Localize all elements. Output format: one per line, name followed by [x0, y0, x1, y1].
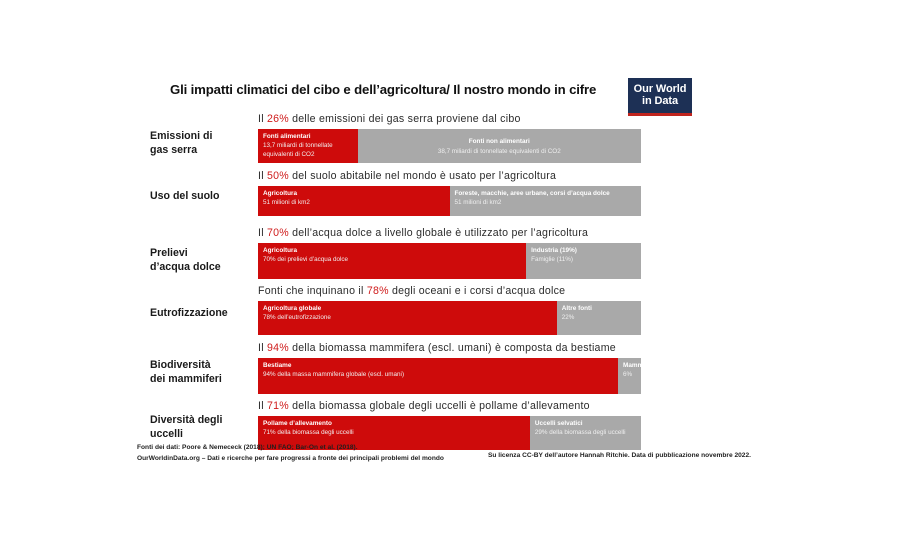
segment-title: Bestiame: [263, 361, 618, 370]
segment-title: Fonti non alimentari: [469, 137, 530, 146]
header: Gli impatti climatici del cibo e dell’ag…: [0, 78, 900, 118]
footer-sources: Fonti dei dati: Poore & Nemececk (2018);…: [137, 443, 444, 464]
row-label: Uso del suolo: [150, 190, 250, 204]
bar-segment-other: Industria (19%)Famiglie (11%): [526, 243, 641, 279]
metric-row: Uso del suoloIl 50% del suolo abitabile …: [0, 170, 900, 223]
row-caption: Il 70% dell’acqua dolce a livello global…: [258, 227, 658, 239]
bar-segment-agriculture: Agricoltura51 milioni di km2: [258, 186, 450, 216]
bar-segment-other: Mammiferi selvatici6%: [618, 358, 641, 394]
segment-subtitle: 29% della biomassa degli uccelli: [535, 428, 641, 437]
segment-title: Foreste, macchie, aree urbane, corsi d’a…: [455, 189, 642, 198]
caption-percentage: 71%: [267, 400, 289, 412]
page-title: Gli impatti climatici del cibo e dell’ag…: [170, 82, 620, 99]
segment-subtitle: Famiglie (11%): [531, 255, 641, 264]
bar-segment-agriculture: Agricoltura globale78% dell’eutrofizzazi…: [258, 301, 557, 335]
bar-segment-other: Foreste, macchie, aree urbane, corsi d’a…: [450, 186, 642, 216]
segment-title: Pollame d’allevamento: [263, 419, 530, 428]
row-caption: Fonti che inquinano il 78% degli oceani …: [258, 285, 658, 297]
segment-subtitle: 6%: [623, 370, 641, 379]
caption-percentage: 78%: [367, 285, 389, 297]
stacked-bar: Agricoltura globale78% dell’eutrofizzazi…: [258, 301, 641, 335]
caption-percentage: 94%: [267, 342, 289, 354]
infographic-page: Gli impatti climatici del cibo e dell’ag…: [0, 0, 900, 540]
caption-percentage: 50%: [267, 170, 289, 182]
metric-row: EutrofizzazioneFonti che inquinano il 78…: [0, 285, 900, 342]
segment-subtitle: 51 milioni di km2: [263, 198, 450, 207]
segment-title: Agricoltura: [263, 246, 526, 255]
footer-license: Su licenza CC-BY dell’autore Hannah Ritc…: [488, 452, 751, 459]
our-world-in-data-logo: Our World in Data: [628, 78, 692, 116]
bar-segment-agriculture: Agricoltura70% dei prelievi d’acqua dolc…: [258, 243, 526, 279]
segment-title: Agricoltura globale: [263, 304, 557, 313]
segment-title: Mammiferi selvatici: [623, 361, 641, 370]
caption-prefix: Il: [258, 227, 267, 239]
row-caption: Il 50% del suolo abitabile nel mondo è u…: [258, 170, 658, 182]
caption-suffix: del suolo abitabile nel mondo è usato pe…: [289, 170, 556, 182]
row-label: Biodiversitàdei mammiferi: [150, 359, 250, 387]
footer-sources-line-2: OurWorldinData.org – Dati e ricerche per…: [137, 454, 444, 465]
caption-suffix: delle emissioni dei gas serra proviene d…: [289, 113, 521, 125]
segment-subtitle: 70% dei prelievi d’acqua dolce: [263, 255, 526, 264]
segment-subtitle: 78% dell’eutrofizzazione: [263, 313, 557, 322]
caption-percentage: 70%: [267, 227, 289, 239]
caption-percentage: 26%: [267, 113, 289, 125]
row-caption: Il 26% delle emissioni dei gas serra pro…: [258, 113, 658, 125]
caption-suffix: della biomassa globale degli uccelli è p…: [289, 400, 590, 412]
metric-row: Biodiversitàdei mammiferiIl 94% della bi…: [0, 342, 900, 401]
caption-prefix: Il: [258, 400, 267, 412]
bar-segment-agriculture: Fonti alimentari13,7 miliardi di tonnell…: [258, 129, 358, 163]
stacked-bar: Bestiame94% della massa mammifera global…: [258, 358, 641, 394]
caption-prefix: Il: [258, 170, 267, 182]
segment-title: Altre fonti: [562, 304, 641, 313]
segment-subtitle: 51 milioni di km2: [455, 198, 642, 207]
segment-title: Uccelli selvatici: [535, 419, 641, 428]
row-caption: Il 94% della biomassa mammifera (escl. u…: [258, 342, 658, 354]
bar-segment-agriculture: Bestiame94% della massa mammifera global…: [258, 358, 618, 394]
segment-subtitle: 22%: [562, 313, 641, 322]
segment-title: Agricoltura: [263, 189, 450, 198]
bar-segment-other: Altre fonti22%: [557, 301, 641, 335]
row-label: Diversità degliuccelli: [150, 414, 250, 442]
segment-title: Industria (19%): [531, 246, 641, 255]
stacked-bar: Fonti alimentari13,7 miliardi di tonnell…: [258, 129, 641, 163]
footer-sources-line-1: Fonti dei dati: Poore & Nemececk (2018);…: [137, 443, 444, 454]
logo-line-1: Our World: [634, 83, 687, 95]
caption-suffix: dell’acqua dolce a livello globale è uti…: [289, 227, 588, 239]
segment-title: Fonti alimentari: [263, 132, 358, 141]
stacked-bar: Agricoltura70% dei prelievi d’acqua dolc…: [258, 243, 641, 279]
bar-segment-other: Fonti non alimentari38,7 miliardi di ton…: [358, 129, 641, 163]
metric-row: Emissioni digas serraIl 26% delle emissi…: [0, 113, 900, 170]
footer: Fonti dei dati: Poore & Nemececk (2018);…: [0, 443, 900, 469]
caption-prefix: Fonti che inquinano il: [258, 285, 367, 297]
segment-subtitle: 13,7 miliardi di tonnellate equivalenti …: [263, 141, 358, 159]
segment-subtitle: 38,7 miliardi di tonnellate equivalenti …: [438, 147, 561, 156]
row-label: Prelievid’acqua dolce: [150, 247, 250, 275]
row-caption: Il 71% della biomassa globale degli ucce…: [258, 400, 658, 412]
segment-subtitle: 94% della massa mammifera globale (escl.…: [263, 370, 618, 379]
segment-subtitle: 71% della biomassa degli uccelli: [263, 428, 530, 437]
row-label: Emissioni digas serra: [150, 130, 250, 158]
caption-prefix: Il: [258, 342, 267, 354]
caption-suffix: della biomassa mammifera (escl. umani) è…: [289, 342, 616, 354]
stacked-bar: Agricoltura51 milioni di km2Foreste, mac…: [258, 186, 641, 216]
metric-row: Prelievid’acqua dolceIl 70% dell’acqua d…: [0, 227, 900, 286]
logo-line-2: in Data: [642, 95, 678, 107]
caption-prefix: Il: [258, 113, 267, 125]
row-label: Eutrofizzazione: [150, 307, 250, 321]
caption-suffix: degli oceani e i corsi d’acqua dolce: [389, 285, 566, 297]
